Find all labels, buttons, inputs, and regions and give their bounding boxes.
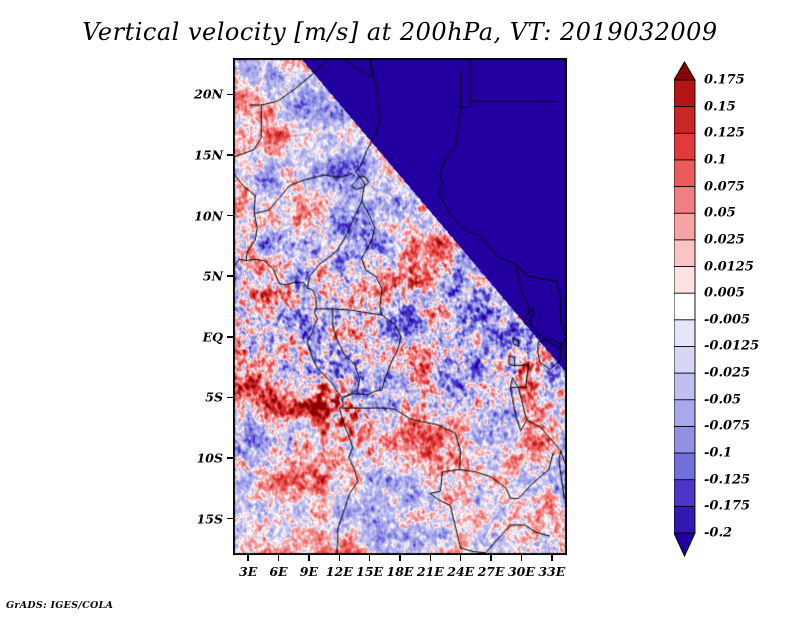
y-axis-tick-label: 15N <box>171 147 223 162</box>
y-axis-tick <box>227 397 233 399</box>
colorbar-band <box>674 267 695 294</box>
x-axis-tick-label: 30E <box>508 564 535 579</box>
colorbar-band <box>674 373 695 400</box>
colorbar-tick-label: -0.005 <box>704 312 750 327</box>
y-axis-tick <box>227 457 233 459</box>
x-axis-tick-label: 9E <box>300 564 318 579</box>
colorbar-tick-label: -0.075 <box>704 419 750 434</box>
colorbar-band <box>674 107 695 134</box>
y-axis-tick <box>227 154 233 156</box>
colorbar-band <box>674 240 695 267</box>
x-axis-tick-label: 24E <box>447 564 474 579</box>
colorbar-tick-label: -0.1 <box>704 446 732 461</box>
y-axis-tick <box>227 215 233 217</box>
colorbar-band <box>674 213 695 240</box>
colorbar-tick-label: 0.0125 <box>704 259 754 274</box>
y-axis-tick-label: 5S <box>171 390 223 405</box>
colorbar-tick-label: 0.05 <box>704 206 736 221</box>
vertical-velocity-heatmap <box>234 59 566 554</box>
colorbar-tick-label: -0.025 <box>704 366 750 381</box>
grads-figure: Vertical velocity [m/s] at 200hPa, VT: 2… <box>0 0 800 618</box>
colorbar-tick-label: -0.05 <box>704 392 741 407</box>
x-axis-tick-label: 12E <box>326 564 353 579</box>
colorbar-band <box>674 320 695 347</box>
colorbar[interactable]: 0.1750.150.1250.10.0750.050.0250.01250.0… <box>674 58 796 558</box>
colorbar-tick-label: -0.2 <box>704 526 732 541</box>
colorbar-band <box>674 426 695 453</box>
x-axis-tick <box>308 555 310 561</box>
x-axis-tick <box>247 555 249 561</box>
y-axis-tick-label: 5N <box>171 269 223 284</box>
map-plot-area[interactable] <box>233 58 567 555</box>
y-axis-tick <box>227 336 233 338</box>
y-axis-tick <box>227 275 233 277</box>
x-axis-tick <box>339 555 341 561</box>
y-axis-tick-label: 10S <box>171 451 223 466</box>
colorbar-band <box>674 400 695 427</box>
y-axis-tick-label: 15S <box>171 511 223 526</box>
x-axis-tick-label: 21E <box>417 564 444 579</box>
x-axis-tick-label: 33E <box>538 564 565 579</box>
colorbar-band <box>674 133 695 160</box>
x-axis-tick-label: 27E <box>478 564 505 579</box>
x-axis-tick-label: 3E <box>239 564 257 579</box>
x-axis-tick-label: 6E <box>269 564 287 579</box>
colorbar-tick-label: 0.075 <box>704 179 745 194</box>
colorbar-tick-label: -0.0125 <box>704 339 759 354</box>
x-axis-tick <box>430 555 432 561</box>
colorbar-max-arrow <box>674 62 695 80</box>
colorbar-band <box>674 187 695 214</box>
y-axis-tick-label: EQ <box>171 329 223 344</box>
x-axis-tick <box>399 555 401 561</box>
y-axis-tick-label: 20N <box>171 87 223 102</box>
colorbar-band <box>674 80 695 107</box>
colorbar-band <box>674 506 695 533</box>
x-axis-tick <box>369 555 371 561</box>
colorbar-tick-label: 0.025 <box>704 232 745 247</box>
colorbar-tick-label: 0.1 <box>704 152 727 167</box>
footer-credit: GrADS: IGES/COLA <box>6 600 113 611</box>
colorbar-band <box>674 293 695 320</box>
y-axis-tick <box>227 518 233 520</box>
x-axis-tick <box>551 555 553 561</box>
colorbar-band <box>674 346 695 373</box>
x-axis-tick-label: 18E <box>387 564 414 579</box>
colorbar-tick-label: 0.175 <box>704 73 745 88</box>
x-axis-tick <box>490 555 492 561</box>
x-axis-tick <box>460 555 462 561</box>
colorbar-tick-label: -0.125 <box>704 472 750 487</box>
colorbar-tick-label: 0.15 <box>704 99 736 114</box>
y-axis-tick <box>227 94 233 96</box>
x-axis-tick <box>521 555 523 561</box>
y-axis-tick-label: 10N <box>171 208 223 223</box>
colorbar-band <box>674 160 695 187</box>
colorbar-tick-label: -0.175 <box>704 499 750 514</box>
page-title: Vertical velocity [m/s] at 200hPa, VT: 2… <box>0 18 800 46</box>
colorbar-band <box>674 453 695 480</box>
x-axis-tick-label: 15E <box>356 564 383 579</box>
colorbar-tick-label: 0.005 <box>704 286 745 301</box>
colorbar-min-arrow <box>674 533 695 556</box>
colorbar-band <box>674 480 695 507</box>
colorbar-tick-label: 0.125 <box>704 126 745 141</box>
x-axis-tick <box>278 555 280 561</box>
